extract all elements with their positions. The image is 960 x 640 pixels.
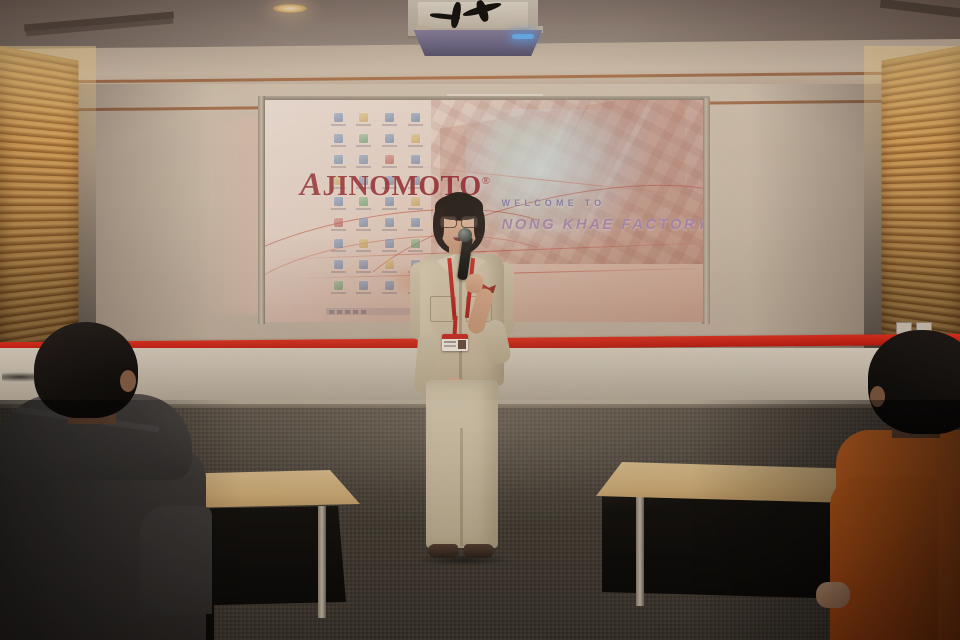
projector-status-led-icon [512,34,534,39]
id-badge-photo [458,340,466,349]
eyeglasses-icon [439,216,479,226]
id-badge [442,334,468,351]
screen-frame-left [258,96,265,324]
eyeglass-lens [461,216,478,228]
ceiling-downlight [273,4,307,13]
wood-slat-panel-right [882,46,960,366]
projection-light-spill [196,118,262,314]
floor-shading [0,400,960,640]
eyeglass-lens [440,216,457,228]
screen-frame-right [702,98,710,324]
wood-slat-panel-left [0,46,78,366]
id-badge-stripe [442,334,468,339]
uniform-button-placket [459,268,462,384]
audience-ear [120,370,136,392]
id-badge-text-lines [444,341,456,343]
meeting-room-photo: AJINOMOTO AJINOMOTO® WELCOM [0,0,960,640]
